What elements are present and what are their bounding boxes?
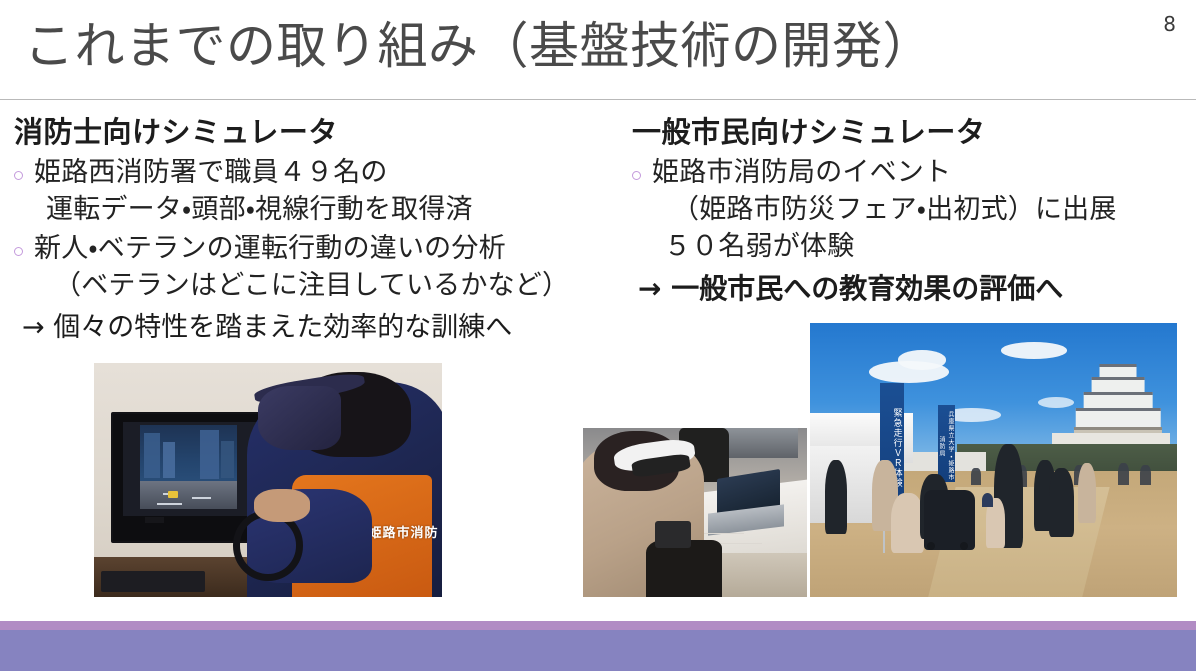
sim-lane-marking <box>192 497 211 499</box>
monitor-screen <box>123 422 257 516</box>
photo-firefighter-simulator: 姫路市消防 <box>94 363 442 597</box>
castle-tier <box>1100 364 1137 377</box>
circle-bullet-icon <box>632 154 652 184</box>
bullet-line: ５０名弱が体験 <box>652 228 1188 265</box>
sim-lane-marking <box>157 503 181 505</box>
left-column-heading: 消防士向けシミュレータ <box>14 112 624 152</box>
page-title: これまでの取り組み（基盤技術の開発） <box>24 8 933 84</box>
crowd-figure <box>1118 463 1129 485</box>
bullet-text: 姫路西消防署で職員４９名の 運転データ・頭部・視線行動を取得済 <box>34 154 624 228</box>
castle-tier <box>1084 392 1153 408</box>
bullet-text: 新人・ベテランの運転行動の違いの分析 （ベテランはどこに注目しているかなど） <box>34 230 624 304</box>
photo-scene: 姫路市消防 <box>94 363 442 597</box>
cloud <box>1038 397 1075 408</box>
left-column: 消防士向けシミュレータ 姫路西消防署で職員４９名の 運転データ・頭部・視線行動を… <box>14 112 624 348</box>
bullet-line: 新人・ベテランの運転行動の違いの分析 <box>34 230 624 267</box>
sim-building <box>144 433 160 478</box>
bullet-line: 姫路市消防局のイベント <box>652 154 1188 191</box>
photo-scene: 緊急走行ＶＲ体験 兵庫県立大学・姫路市消防局 <box>810 323 1177 597</box>
list-item: 新人・ベテランの運転行動の違いの分析 （ベテランはどこに注目しているかなど） <box>14 230 624 304</box>
firefighter-hand <box>254 489 310 522</box>
child-hat <box>982 493 993 507</box>
photo-citizen-experience <box>583 428 807 597</box>
bullet-line: 運転データ・頭部・視線行動を取得済 <box>34 191 624 228</box>
bullet-line: 姫路西消防署で職員４９名の <box>34 154 624 191</box>
vr-experience-banner-secondary: 兵庫県立大学・姫路市消防局 <box>938 405 955 482</box>
right-column-heading: 一般市民向けシミュレータ <box>632 112 1188 152</box>
sim-building <box>200 430 219 479</box>
slide-canvas: これまでの取り組み（基盤技術の開発） 8 消防士向けシミュレータ 姫路西消防署で… <box>0 0 1196 671</box>
left-column-conclusion: → 個々の特性を踏まえた効率的な訓練へ <box>14 308 624 348</box>
right-column: 一般市民向けシミュレータ 姫路市消防局のイベント （姫路市防災フェア・出初式）に… <box>632 112 1188 309</box>
title-divider <box>0 99 1196 100</box>
cloud <box>898 350 946 369</box>
photo-himeji-event: 緊急走行ＶＲ体験 兵庫県立大学・姫路市消防局 <box>810 323 1177 597</box>
bullet-text: 姫路市消防局のイベント （姫路市防災フェア・出初式）に出展 ５０名弱が体験 <box>652 154 1188 265</box>
right-column-conclusion: → 一般市民への教育効果の評価へ <box>632 269 1188 309</box>
keyboard <box>101 571 205 592</box>
vr-headset-icon <box>258 386 342 449</box>
photo-scene <box>583 428 807 597</box>
list-item: 姫路西消防署で職員４９名の 運転データ・頭部・視線行動を取得済 <box>14 154 624 228</box>
bullet-line: （姫路市防災フェア・出初式）に出展 <box>652 191 1188 228</box>
circle-bullet-icon <box>14 154 34 184</box>
visitor-crouching <box>891 493 924 553</box>
bullet-line: （ベテランはどこに注目しているかなど） <box>34 267 624 304</box>
sim-building <box>163 442 175 478</box>
monitor-stand <box>145 517 163 523</box>
circle-bullet-icon <box>14 230 34 260</box>
footer-accent-bar <box>0 621 1196 630</box>
visitor-figure <box>1049 468 1075 537</box>
cloud <box>1001 342 1067 358</box>
parked-car <box>722 428 798 458</box>
crowd-figure <box>1140 465 1151 484</box>
citizen-lap <box>646 540 722 597</box>
castle-tier <box>1076 408 1161 426</box>
sim-building <box>221 441 234 479</box>
visitor-figure <box>825 460 847 534</box>
sim-vehicle <box>168 491 177 498</box>
visitor-figure <box>1078 463 1096 523</box>
castle-tier <box>1092 377 1145 392</box>
sim-road <box>140 481 237 509</box>
list-item: 姫路市消防局のイベント （姫路市防災フェア・出初式）に出展 ５０名弱が体験 <box>632 154 1188 265</box>
vest-text: 姫路市消防 <box>369 522 439 541</box>
footer-band <box>0 630 1196 671</box>
page-number: 8 <box>1163 12 1176 36</box>
vr-controller-icon <box>655 521 691 548</box>
crowd-figure <box>971 468 980 484</box>
